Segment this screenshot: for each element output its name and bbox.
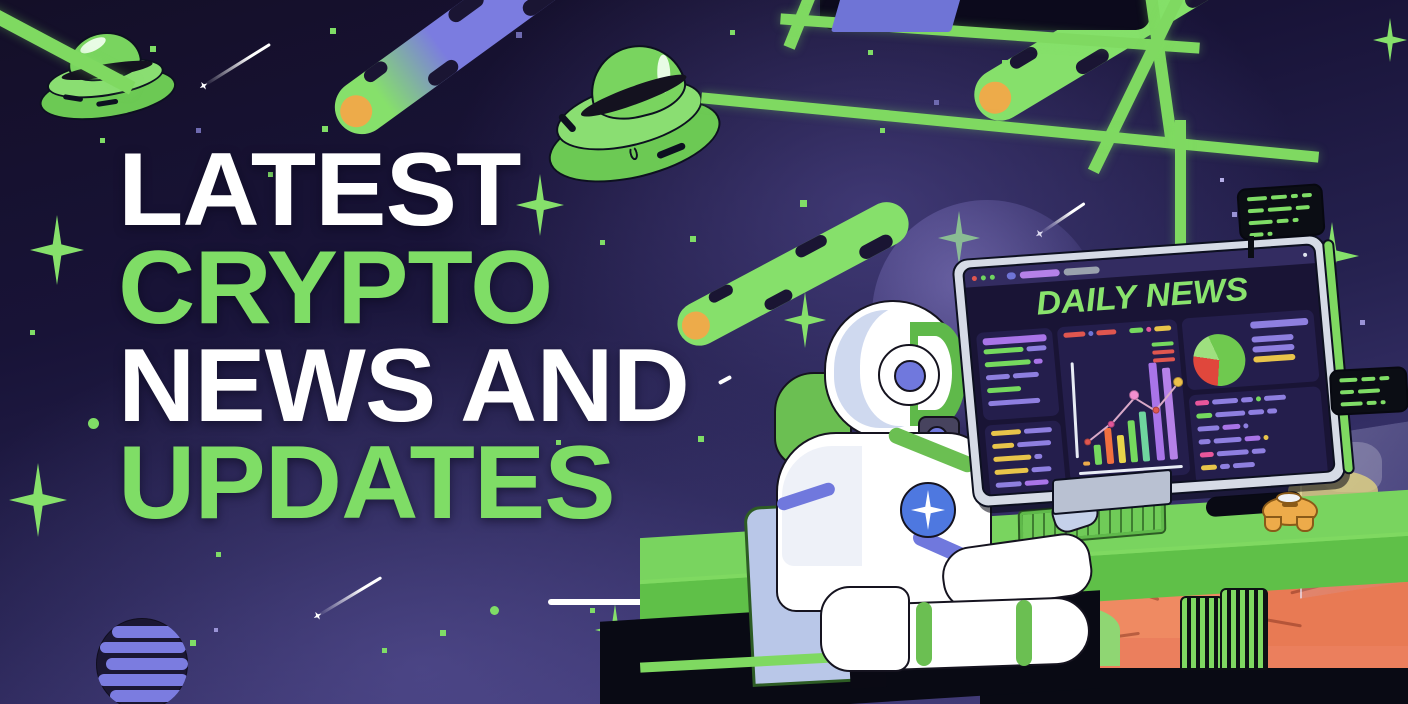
star-dot — [1360, 320, 1365, 325]
terminal-panel-right[interactable] — [1329, 366, 1408, 416]
star-dot — [214, 628, 218, 632]
code-row — [986, 371, 1051, 384]
chart-data-point — [1173, 377, 1184, 388]
code-row — [983, 345, 1048, 358]
code-row — [985, 358, 1050, 371]
legend-swatch — [1096, 329, 1117, 335]
pie-chart-wrap — [1188, 320, 1249, 384]
panel-code-purple[interactable] — [976, 328, 1060, 421]
star-dot — [330, 28, 336, 34]
star-dot — [440, 630, 446, 636]
terminal-row — [1248, 205, 1314, 218]
pie-legend — [1250, 316, 1313, 380]
star-dot — [516, 32, 522, 38]
code-row — [994, 466, 1059, 479]
chart-bar — [1104, 428, 1114, 464]
legend-row — [1153, 357, 1175, 363]
star-dot — [800, 200, 807, 207]
shooting-star — [203, 43, 271, 87]
chart-data-point — [1084, 438, 1092, 445]
headline-line-1: LATEST — [118, 142, 777, 240]
legend-row — [1251, 334, 1293, 343]
canister — [1180, 588, 1270, 670]
star-dot — [100, 138, 105, 143]
coffee-mug[interactable] — [1260, 490, 1320, 534]
chart-bar — [1127, 420, 1138, 462]
window-dot-maximize-icon[interactable] — [990, 274, 995, 279]
astronaut-leg-stripe — [1016, 600, 1032, 666]
star-dot — [934, 100, 939, 105]
chart-bar — [1139, 411, 1151, 461]
planet-striped-bottom-left — [96, 618, 188, 704]
star-dot — [490, 606, 499, 615]
code-line — [982, 334, 1046, 345]
pie-chart — [1191, 332, 1248, 387]
astronaut-leg-stripe — [916, 602, 932, 666]
dashboard-body — [976, 309, 1327, 488]
shooting-star — [317, 576, 382, 617]
code-row — [987, 384, 1052, 397]
star-dot — [382, 648, 387, 653]
star-dot — [868, 50, 873, 55]
star-dot — [1220, 178, 1224, 182]
terminal-stem — [1248, 236, 1254, 258]
legend-row — [1253, 354, 1295, 363]
legend-swatch — [1146, 327, 1152, 332]
terminal-row — [1339, 376, 1397, 387]
legend-row — [1151, 341, 1173, 347]
headline-line-4: UPDATES — [118, 435, 777, 533]
headline-line-2: CRYPTO — [118, 240, 777, 338]
chart-bar — [1093, 445, 1102, 465]
legend-row — [1152, 349, 1174, 355]
chart-data-point — [1107, 421, 1115, 428]
browser-tab-active[interactable] — [1019, 269, 1060, 279]
chart-bar — [1083, 461, 1090, 465]
browser-tab-indicator[interactable] — [1006, 272, 1016, 280]
astronaut-hip — [820, 586, 910, 672]
terminal-panel-top-right[interactable] — [1236, 183, 1325, 241]
legend-swatch — [1088, 331, 1093, 336]
code-row — [993, 453, 1058, 466]
headline: LATEST CRYPTO NEWS AND UPDATES — [118, 142, 758, 533]
browser-tab-inactive[interactable] — [1063, 266, 1100, 275]
monitor-screen: DAILY NEWS — [962, 243, 1336, 497]
legend-row — [1250, 318, 1309, 329]
dashboard-left-column — [976, 328, 1066, 489]
dashboard-right-column — [1181, 309, 1327, 474]
camera-indicator-icon — [1303, 253, 1307, 257]
chart-panel[interactable] — [1057, 319, 1191, 483]
star-dot — [88, 418, 99, 429]
legend-swatch — [1129, 327, 1143, 333]
astronaut-helmet-port — [894, 360, 926, 392]
code-row — [988, 397, 1053, 410]
star-dot — [880, 128, 885, 133]
panel-pie-summary[interactable] — [1181, 309, 1319, 390]
code-row — [996, 478, 1061, 491]
terminal-row — [1247, 193, 1313, 206]
terminal-row — [1340, 387, 1398, 398]
legend-row — [1252, 344, 1294, 353]
star-dot — [216, 552, 221, 557]
legend-swatch — [1063, 331, 1086, 338]
window-dot-minimize-icon[interactable] — [981, 275, 986, 280]
terminal-row — [1249, 217, 1315, 230]
legend-swatch — [1154, 325, 1172, 331]
banner-illustration: LATEST CRYPTO NEWS AND UPDATES — [0, 0, 1408, 704]
star-dot — [1232, 212, 1237, 217]
chart-bar — [1117, 435, 1127, 463]
headline-line-3: NEWS AND — [118, 338, 777, 436]
terminal-row — [1341, 399, 1399, 410]
star-dot — [30, 330, 35, 335]
chart-y-axis — [1071, 362, 1079, 458]
star-dot — [590, 608, 595, 613]
star-dot — [190, 640, 196, 646]
monitor: DAILY NEWS — [951, 233, 1347, 508]
window-dot-close-icon[interactable] — [972, 275, 977, 280]
code-row — [992, 440, 1057, 453]
star-dot — [730, 30, 735, 35]
code-row — [991, 427, 1056, 440]
panel-table-rows[interactable] — [1188, 386, 1328, 485]
chart-legend — [1063, 325, 1171, 338]
